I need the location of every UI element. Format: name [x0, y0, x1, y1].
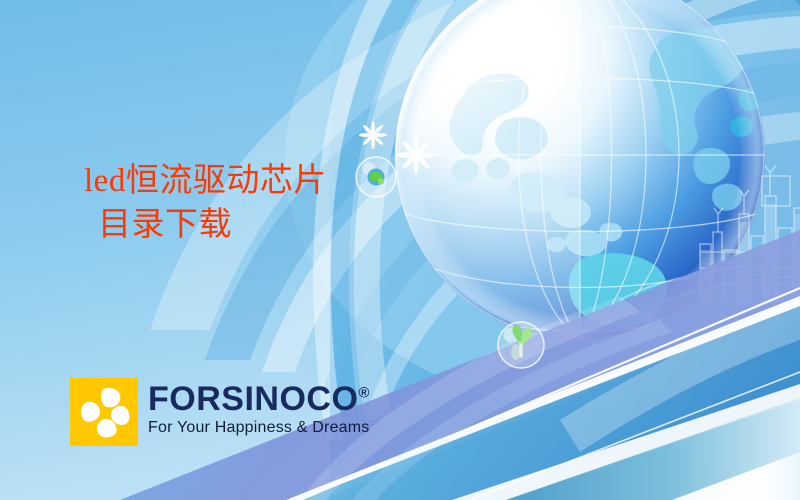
forsinoco-pinwheel-mark — [70, 378, 138, 446]
bubble-with-green-sprout-icon — [498, 322, 544, 368]
logo-tagline: For Your Happiness & Dreams — [148, 419, 370, 437]
banner-image: led恒流驱动芯片 目录下载 FORSINOCO® For Your Happi… — [0, 0, 800, 500]
registered-trademark-symbol: ® — [358, 385, 369, 402]
company-logo[interactable]: FORSINOCO® For Your Happiness & Dreams — [70, 378, 370, 446]
bubble-with-globe-icon — [356, 157, 396, 197]
pinwheel-icon — [70, 378, 138, 446]
logo-wordmark-text: FORSINOCO — [148, 380, 358, 418]
logo-wordmark: FORSINOCO® — [148, 382, 370, 416]
logo-text-block: FORSINOCO® For Your Happiness & Dreams — [148, 378, 370, 437]
